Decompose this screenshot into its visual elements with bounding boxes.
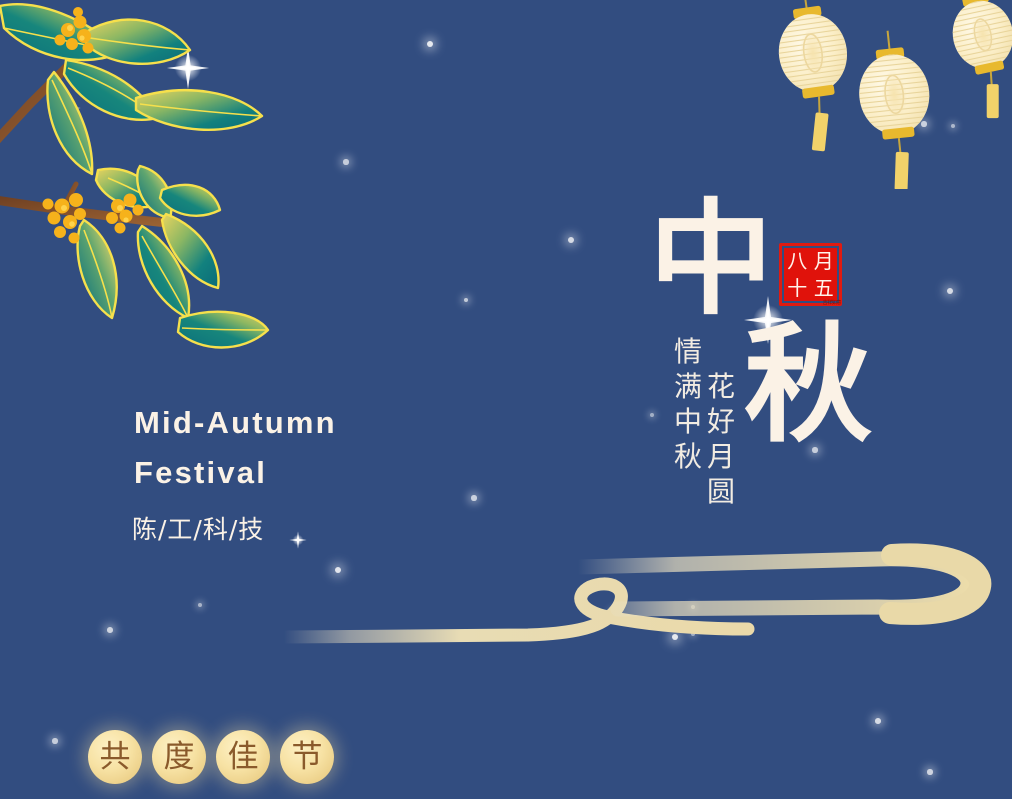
background-star (947, 288, 953, 294)
seal-characters: 八 月 十 五 (784, 248, 837, 301)
brand-subtitle: 陈/工/科/技 (132, 510, 264, 546)
poem-char: 情 (672, 334, 704, 369)
background-star (471, 495, 476, 500)
background-star (568, 237, 574, 243)
background-star (107, 627, 113, 633)
background-star (464, 298, 469, 303)
headline-line-1: Mid-Autumn (134, 398, 337, 448)
background-star (927, 769, 932, 774)
gold-ribbon-illustration (278, 525, 1004, 655)
coin-label: 度 (164, 742, 195, 773)
background-star (52, 738, 57, 743)
background-star (650, 413, 654, 417)
big-character-zhong: 中 (649, 198, 773, 322)
coin-label: 节 (292, 742, 323, 773)
coin-3: 佳 (216, 730, 270, 784)
coin-2: 度 (152, 730, 206, 784)
date-seal-stamp: 八 月 十 五 吉祥如意 (779, 243, 842, 306)
poem-char: 月 (705, 439, 737, 474)
poem-char: 秋 (672, 439, 704, 474)
coin-label: 共 (100, 742, 131, 773)
hanging-lanterns-illustration (752, 0, 1012, 189)
osmanthus-branch-illustration (0, 0, 290, 378)
seal-char: 月 (814, 251, 834, 271)
poem-char: 圆 (705, 474, 737, 509)
seal-char: 五 (814, 278, 834, 298)
coin-label: 佳 (228, 742, 259, 773)
background-star (427, 41, 433, 47)
poem-column-right: 花 好 月 圆 (705, 369, 737, 509)
background-star (198, 603, 202, 607)
page-title: Mid-Autumn Festival (134, 398, 337, 498)
seal-small-mark: 吉祥如意 (823, 299, 841, 306)
big-character-qiu: 秋 (744, 322, 872, 450)
festival-greeting-coins: 共 度 佳 节 (88, 730, 334, 784)
poem-char: 好 (705, 404, 737, 439)
mid-autumn-poster: Mid-Autumn Festival 陈/工/科/技 中 秋 情 满 中 秋 … (0, 0, 1012, 799)
poem-char: 满 (672, 369, 704, 404)
seal-char: 十 (787, 278, 807, 298)
headline-line-2: Festival (134, 448, 337, 498)
coin-1: 共 (88, 730, 142, 784)
poem-column-left: 情 满 中 秋 (672, 334, 704, 474)
seal-char: 八 (787, 251, 807, 271)
coin-4: 节 (280, 730, 334, 784)
background-star (343, 159, 348, 164)
background-star (875, 718, 881, 724)
poem-char: 中 (672, 404, 704, 439)
poem-char: 花 (705, 369, 737, 404)
